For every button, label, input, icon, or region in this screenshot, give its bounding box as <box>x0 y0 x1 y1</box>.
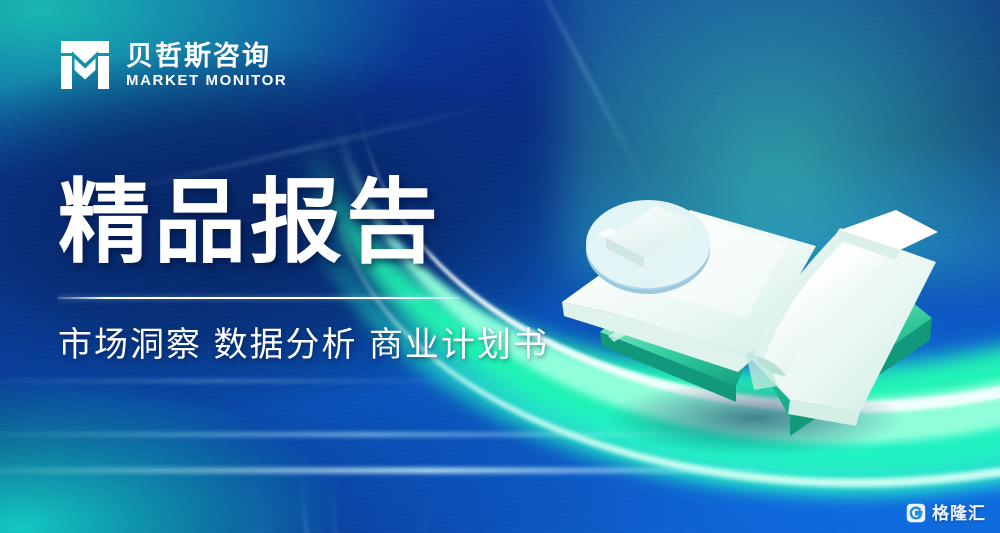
report-cover-banner: 贝哲斯咨询 MARKET MONITOR 精品报告 市场洞察 数据分析 商业计划… <box>0 0 1000 533</box>
open-book-3d-illustration <box>540 150 960 460</box>
title-divider <box>58 297 460 299</box>
brand-logo: 贝哲斯咨询 MARKET MONITOR <box>58 38 287 92</box>
gelonghui-g-logo-icon <box>906 503 926 523</box>
brand-logo-text: 贝哲斯咨询 MARKET MONITOR <box>126 43 287 88</box>
market-monitor-m-logo-icon <box>58 38 112 92</box>
light-streak-2 <box>0 468 760 473</box>
brand-name-en: MARKET MONITOR <box>126 73 287 88</box>
headline-block: 精品报告 市场洞察 数据分析 商业计划书 <box>58 176 578 366</box>
watermark-text: 格隆汇 <box>932 505 986 522</box>
brand-name-cn: 贝哲斯咨询 <box>126 43 287 70</box>
page-title: 精品报告 <box>58 176 578 271</box>
watermark: 格隆汇 <box>906 503 986 523</box>
page-subtitle: 市场洞察 数据分析 商业计划书 <box>58 325 578 366</box>
light-streak-3 <box>0 380 480 382</box>
